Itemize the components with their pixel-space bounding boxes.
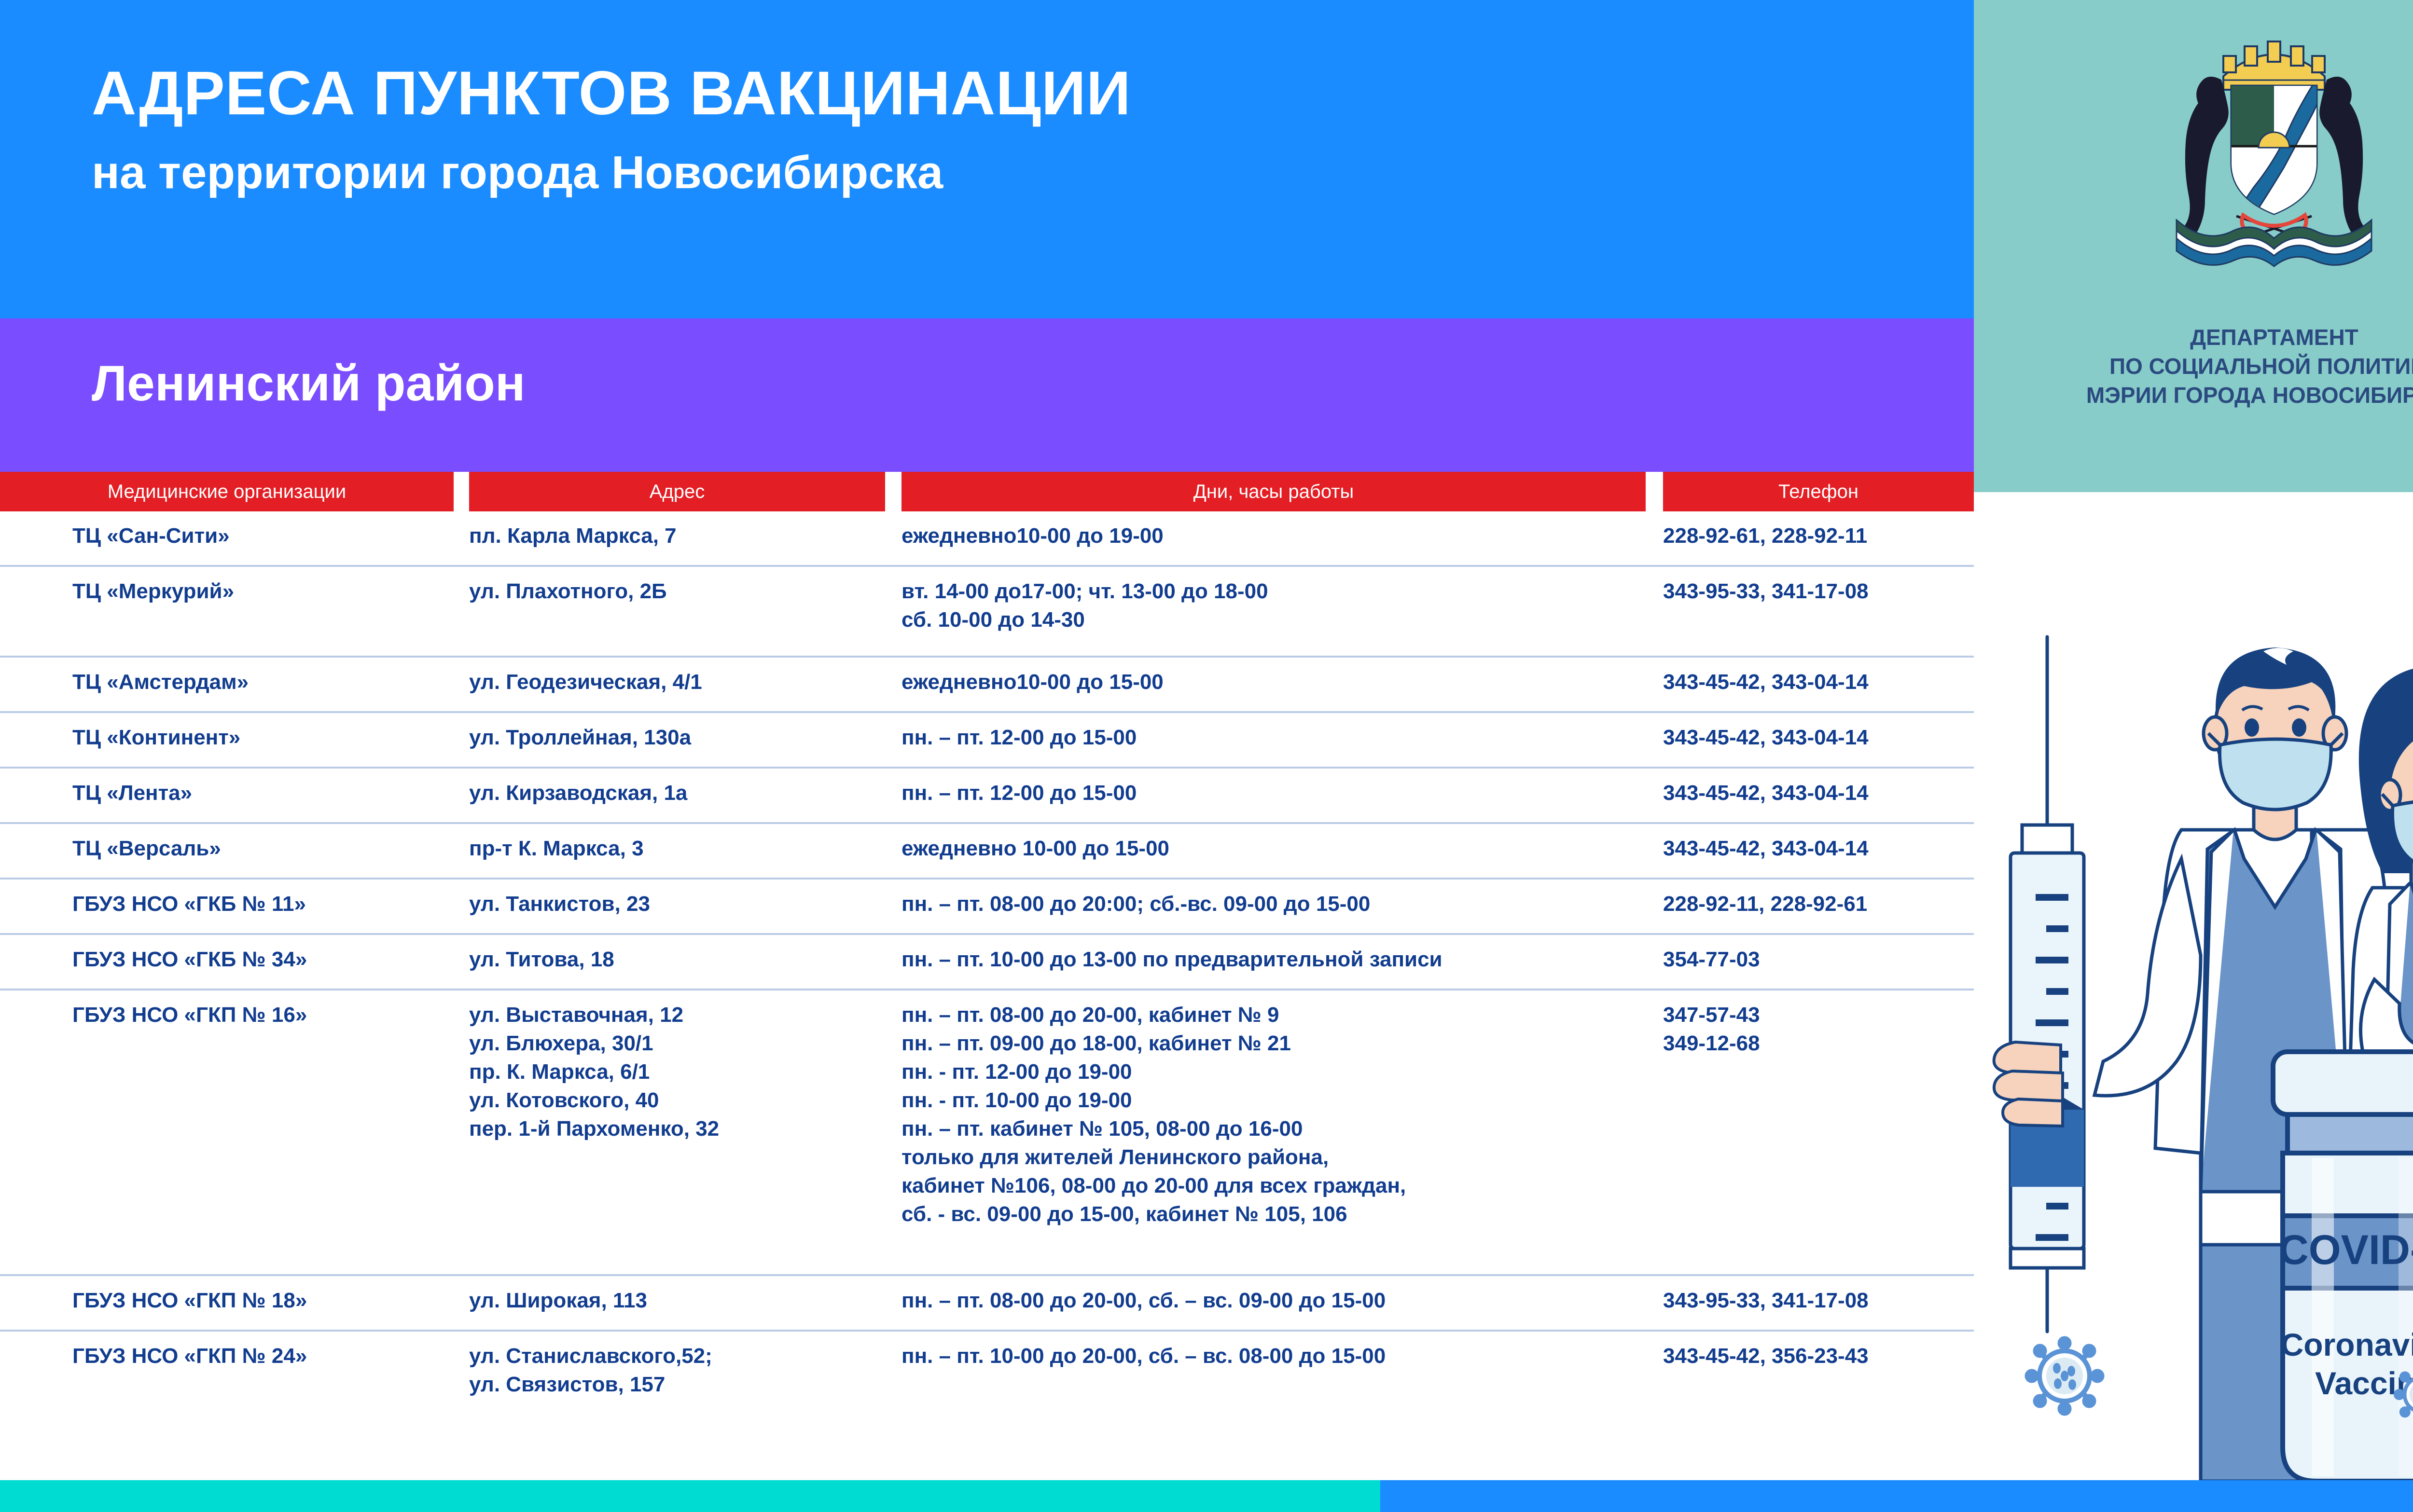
org-name-line: ТЦ «Сан-Сити»: [72, 522, 458, 550]
page-subtitle: на территории города Новосибирска: [92, 150, 943, 196]
hours-line: сб. - вс. 09-00 до 15-00, кабинет № 105,…: [901, 1200, 1654, 1229]
phone-line: 228-92-61, 228-92-11: [1663, 522, 1972, 550]
address-line: ул. Выставочная, 12: [469, 1001, 894, 1030]
table-row: ГБУЗ НСО «ГКП № 16»ул. Выставочная, 12ул…: [0, 990, 1974, 1276]
cell-phone: 343-45-42, 343-04-14: [1663, 668, 1972, 697]
cell-org-name: ТЦ «Континент»: [72, 724, 458, 752]
bottom-strip-blue: [1380, 1480, 2413, 1512]
address-line: ул. Танкистов, 23: [469, 890, 894, 919]
cell-org-name: ТЦ «Сан-Сити»: [72, 522, 458, 550]
cell-phone: 343-95-33, 341-17-08: [1663, 577, 1972, 606]
table-row: ГБУЗ НСО «ГКБ № 34»ул. Титова, 18пн. – п…: [0, 935, 1974, 990]
district-name: Ленинский район: [92, 355, 526, 412]
cell-phone: 228-92-11, 228-92-61: [1663, 890, 1972, 919]
phone-line: 343-95-33, 341-17-08: [1663, 1287, 1972, 1315]
table-row: ГБУЗ НСО «ГКП № 24»ул. Станиславского,52…: [0, 1332, 1974, 1416]
address-line: ул. Связистов, 157: [469, 1371, 894, 1399]
table-row: ТЦ «Континент»ул. Троллейная, 130апн. – …: [0, 713, 1974, 769]
cell-org-name: ТЦ «Меркурий»: [72, 577, 458, 606]
main-content-column: АДРЕСА ПУНКТОВ ВАКЦИНАЦИИ на территории …: [0, 0, 1974, 1512]
poster-header: АДРЕСА ПУНКТОВ ВАКЦИНАЦИИ на территории …: [0, 0, 1974, 318]
department-line-1: ДЕПАРТАМЕНТ: [1974, 323, 2413, 352]
column-header-organization: Медицинские организации: [0, 472, 454, 511]
hours-line: пн. – пт. 08-00 до 20:00; сб.-вс. 09-00 …: [901, 890, 1654, 919]
column-header-address: Адрес: [469, 472, 885, 511]
phone-line: 343-45-42, 343-04-14: [1663, 724, 1972, 752]
hours-line: пн. - пт. 10-00 до 19-00: [901, 1086, 1654, 1115]
address-line: ул. Геодезическая, 4/1: [469, 668, 894, 697]
hours-line: пн. – пт. 10-00 до 13-00 по предваритель…: [901, 946, 1654, 974]
district-banner: Ленинский район: [0, 318, 1974, 472]
cell-org-name: ТЦ «Амстердам»: [72, 668, 458, 697]
address-line: пер. 1-й Пархоменко, 32: [469, 1115, 894, 1143]
cell-phone: 354-77-03: [1663, 946, 1972, 974]
vaccination-points-table: Медицинские организации Адрес Дни, часы …: [0, 472, 1974, 1416]
cell-address: ул. Троллейная, 130а: [469, 724, 894, 752]
cell-address: пр-т К. Маркса, 3: [469, 835, 894, 863]
hours-line: пн. – пт. 08-00 до 20-00, кабинет № 9: [901, 1001, 1654, 1030]
address-line: пр-т К. Маркса, 3: [469, 835, 894, 863]
cell-org-name: ТЦ «Лента»: [72, 779, 458, 808]
cell-org-name: ГБУЗ НСО «ГКП № 18»: [72, 1287, 458, 1315]
cell-phone: 347-57-43349-12-68: [1663, 1001, 1972, 1058]
org-name-line: ТЦ «Амстердам»: [72, 668, 458, 697]
org-name-line: ТЦ «Меркурий»: [72, 577, 458, 606]
hours-line: пн. – пт. 08-00 до 20-00, сб. – вс. 09-0…: [901, 1287, 1654, 1315]
address-line: ул. Станиславского,52;: [469, 1342, 894, 1371]
table-row: ГБУЗ НСО «ГКБ № 11»ул. Танкистов, 23пн. …: [0, 880, 1974, 935]
address-line: ул. Титова, 18: [469, 946, 894, 974]
org-name-line: ГБУЗ НСО «ГКП № 24»: [72, 1342, 458, 1371]
cell-hours: пн. – пт. 08-00 до 20-00, сб. – вс. 09-0…: [901, 1287, 1654, 1315]
table-row: ТЦ «Амстердам»ул. Геодезическая, 4/1ежед…: [0, 658, 1974, 713]
cell-phone: 343-45-42, 343-04-14: [1663, 779, 1972, 808]
address-line: ул. Плахотного, 2Б: [469, 577, 894, 606]
hours-line: пн. – пт. 09-00 до 18-00, кабинет № 21: [901, 1030, 1654, 1058]
phone-line: 349-12-68: [1663, 1030, 1972, 1058]
department-title: ДЕПАРТАМЕНТ ПО СОЦИАЛЬНОЙ ПОЛИТИКЕ МЭРИИ…: [1974, 323, 2413, 410]
cell-phone: 343-95-33, 341-17-08: [1663, 1287, 1972, 1315]
cell-address: ул. Выставочная, 12ул. Блюхера, 30/1пр. …: [469, 1001, 894, 1143]
poster-root: АДРЕСА ПУНКТОВ ВАКЦИНАЦИИ на территории …: [0, 0, 2413, 1512]
cell-address: ул. Широкая, 113: [469, 1287, 894, 1315]
phone-line: 343-45-42, 356-23-43: [1663, 1342, 1972, 1371]
hours-line: ежедневно10-00 до 15-00: [901, 668, 1654, 697]
cell-address: ул. Плахотного, 2Б: [469, 577, 894, 606]
column-header-phone: Телефон: [1663, 472, 1974, 511]
org-name-line: ГБУЗ НСО «ГКБ № 34»: [72, 946, 458, 974]
table-row: ГБУЗ НСО «ГКП № 18»ул. Широкая, 113пн. –…: [0, 1276, 1974, 1332]
cell-address: ул. Титова, 18: [469, 946, 894, 974]
hours-line: пн. – пт. 12-00 до 15-00: [901, 779, 1654, 808]
cell-address: ул. Станиславского,52;ул. Связистов, 157: [469, 1342, 894, 1399]
org-name-line: ГБУЗ НСО «ГКП № 18»: [72, 1287, 458, 1315]
table-row: ТЦ «Меркурий»ул. Плахотного, 2Бвт. 14-00…: [0, 567, 1974, 658]
cell-hours: пн. – пт. 10-00 до 13-00 по предваритель…: [901, 946, 1654, 974]
hours-line: ежедневно 10-00 до 15-00: [901, 835, 1654, 863]
cell-hours: ежедневно 10-00 до 15-00: [901, 835, 1654, 863]
emblem-band: ДЕПАРТАМЕНТ ПО СОЦИАЛЬНОЙ ПОЛИТИКЕ МЭРИИ…: [1974, 0, 2413, 492]
vial-vaccine-label-line1: Coronavirus: [2281, 1327, 2413, 1362]
hours-line: пн. - пт. 12-00 до 19-00: [901, 1058, 1654, 1086]
cell-hours: вт. 14-00 до17-00; чт. 13-00 до 18-00сб.…: [901, 577, 1654, 634]
cell-org-name: ГБУЗ НСО «ГКБ № 34»: [72, 946, 458, 974]
column-header-hours: Дни, часы работы: [901, 472, 1646, 511]
cell-phone: 343-45-42, 356-23-43: [1663, 1342, 1972, 1371]
branding-column: ДЕПАРТАМЕНТ ПО СОЦИАЛЬНОЙ ПОЛИТИКЕ МЭРИИ…: [1974, 0, 2413, 1512]
cell-hours: пн. – пт. 10-00 до 20-00, сб. – вс. 08-0…: [901, 1342, 1654, 1371]
phone-line: 343-45-42, 343-04-14: [1663, 835, 1972, 863]
hours-line: ежедневно10-00 до 19-00: [901, 522, 1654, 550]
table-row: ТЦ «Сан-Сити»пл. Карла Маркса, 7ежедневн…: [0, 511, 1974, 567]
cell-org-name: ТЦ «Версаль»: [72, 835, 458, 863]
cell-hours: пн. – пт. 08-00 до 20-00, кабинет № 9пн.…: [901, 1001, 1654, 1229]
cell-address: ул. Танкистов, 23: [469, 890, 894, 919]
address-line: пр. К. Маркса, 6/1: [469, 1058, 894, 1086]
address-line: ул. Котовского, 40: [469, 1086, 894, 1115]
org-name-line: ТЦ «Версаль»: [72, 835, 458, 863]
coronavirus-icon: [2027, 1339, 2102, 1413]
vaccination-illustration: COVID-19 Coronavirus Vaccine: [1974, 492, 2413, 1481]
vial-covid-label: COVID-19: [2279, 1227, 2413, 1273]
address-line: ул. Блюхера, 30/1: [469, 1030, 894, 1058]
cell-hours: пн. – пт. 12-00 до 15-00: [901, 779, 1654, 808]
hours-line: кабинет №106, 08-00 до 20-00 для всех гр…: [901, 1172, 1654, 1200]
org-name-line: ТЦ «Континент»: [72, 724, 458, 752]
hours-line: пн. – пт. кабинет № 105, 08-00 до 16-00: [901, 1115, 1654, 1143]
cell-address: ул. Геодезическая, 4/1: [469, 668, 894, 697]
phone-line: 347-57-43: [1663, 1001, 1972, 1030]
cell-phone: 343-45-42, 343-04-14: [1663, 835, 1972, 863]
page-title: АДРЕСА ПУНКТОВ ВАКЦИНАЦИИ: [92, 63, 1131, 124]
cell-address: пл. Карла Маркса, 7: [469, 522, 894, 550]
phone-line: 343-45-42, 343-04-14: [1663, 779, 1972, 808]
vaccine-vial-icon: COVID-19 Coronavirus Vaccine: [2273, 1052, 2413, 1481]
department-line-2: ПО СОЦИАЛЬНОЙ ПОЛИТИКЕ: [1974, 352, 2413, 381]
hours-line: пн. – пт. 12-00 до 15-00: [901, 724, 1654, 752]
phone-line: 354-77-03: [1663, 946, 1972, 974]
cell-hours: пн. – пт. 12-00 до 15-00: [901, 724, 1654, 752]
cell-hours: пн. – пт. 08-00 до 20:00; сб.-вс. 09-00 …: [901, 890, 1654, 919]
address-line: ул. Широкая, 113: [469, 1287, 894, 1315]
bottom-strip: [0, 1480, 2413, 1512]
cell-address: ул. Кирзаводская, 1а: [469, 779, 894, 808]
bottom-strip-teal: [0, 1480, 1380, 1512]
address-line: ул. Троллейная, 130а: [469, 724, 894, 752]
org-name-line: ГБУЗ НСО «ГКП № 16»: [72, 1001, 458, 1030]
org-name-line: ГБУЗ НСО «ГКБ № 11»: [72, 890, 458, 919]
cell-org-name: ГБУЗ НСО «ГКП № 24»: [72, 1342, 458, 1371]
table-row: ТЦ «Лента»ул. Кирзаводская, 1апн. – пт. …: [0, 769, 1974, 824]
phone-line: 343-95-33, 341-17-08: [1663, 577, 1972, 606]
table-body: ТЦ «Сан-Сити»пл. Карла Маркса, 7ежедневн…: [0, 511, 1974, 1416]
hours-line: только для жителей Ленинского района,: [901, 1143, 1654, 1172]
cell-hours: ежедневно10-00 до 19-00: [901, 522, 1654, 550]
cell-hours: ежедневно10-00 до 15-00: [901, 668, 1654, 697]
hours-line: пн. – пт. 10-00 до 20-00, сб. – вс. 08-0…: [901, 1342, 1654, 1371]
department-line-3: МЭРИИ ГОРОДА НОВОСИБИРСКА: [1974, 381, 2413, 410]
cell-org-name: ГБУЗ НСО «ГКБ № 11»: [72, 890, 458, 919]
cell-phone: 228-92-61, 228-92-11: [1663, 522, 1972, 550]
org-name-line: ТЦ «Лента»: [72, 779, 458, 808]
syringe-icon: [2011, 637, 2084, 1332]
cell-phone: 343-45-42, 343-04-14: [1663, 724, 1972, 752]
address-line: ул. Кирзаводская, 1а: [469, 779, 894, 808]
phone-line: 228-92-11, 228-92-61: [1663, 890, 1972, 919]
hours-line: вт. 14-00 до17-00; чт. 13-00 до 18-00: [901, 577, 1654, 606]
table-header-row: Медицинские организации Адрес Дни, часы …: [0, 472, 1974, 511]
novosibirsk-coat-of-arms-icon: [2124, 18, 2413, 289]
cell-org-name: ГБУЗ НСО «ГКП № 16»: [72, 1001, 458, 1030]
hours-line: сб. 10-00 до 14-30: [901, 606, 1654, 634]
address-line: пл. Карла Маркса, 7: [469, 522, 894, 550]
table-row: ТЦ «Версаль»пр-т К. Маркса, 3ежедневно 1…: [0, 824, 1974, 880]
phone-line: 343-45-42, 343-04-14: [1663, 668, 1972, 697]
